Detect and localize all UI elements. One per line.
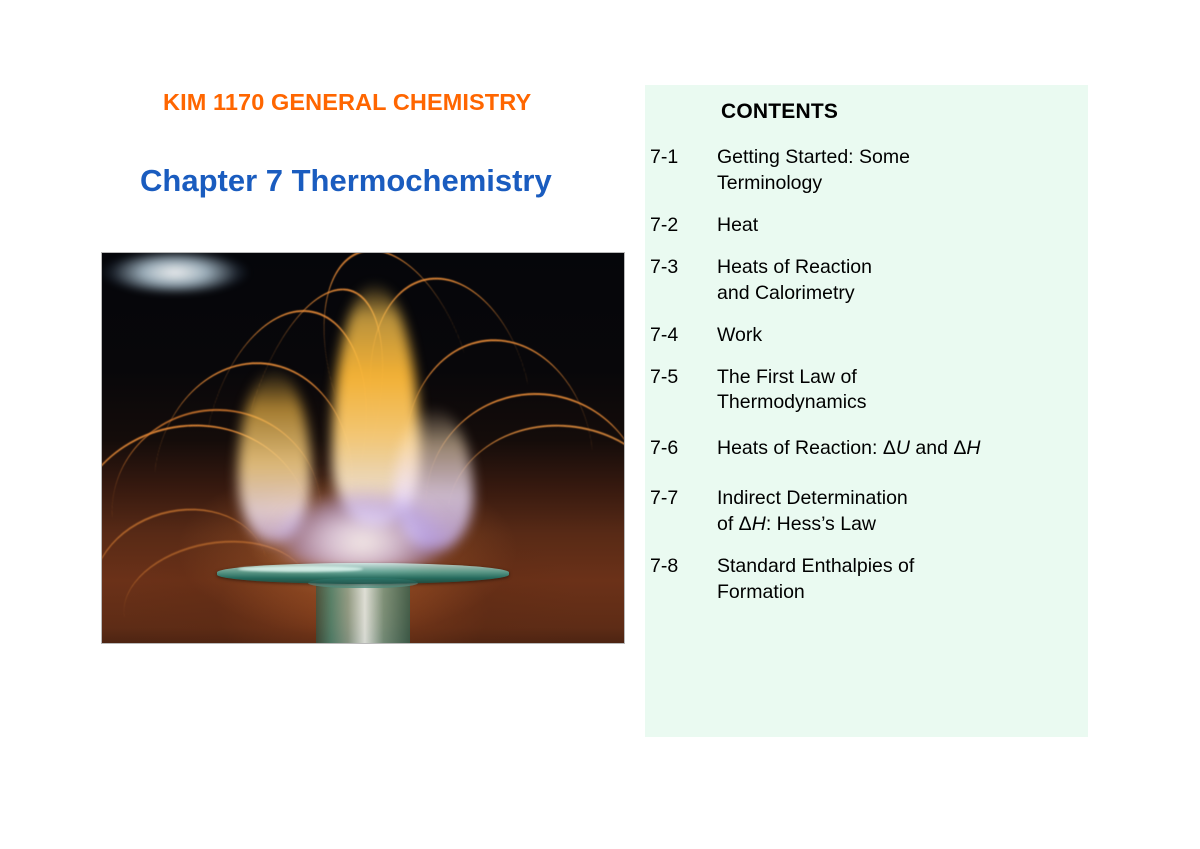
symbol-enthalpy: H: [752, 513, 766, 535]
toc-line-1: The First Law of: [717, 365, 867, 391]
toc-text-pre: of Δ: [717, 513, 752, 535]
contents-list: 7-1 Getting Started: Some Terminology 7-…: [650, 145, 1088, 622]
toc-number: 7-5: [650, 365, 717, 391]
toc-number: 7-6: [650, 436, 717, 462]
toc-number: 7-3: [650, 255, 717, 281]
list-item[interactable]: 7-5 The First Law of Thermodynamics: [650, 365, 1088, 417]
flame-hot-core: [102, 253, 248, 292]
toc-number: 7-4: [650, 323, 717, 349]
toc-number: 7-2: [650, 213, 717, 239]
symbol-enthalpy: H: [966, 437, 980, 459]
toc-line-1: Heats of Reaction: [717, 255, 872, 281]
contents-panel: CONTENTS 7-1 Getting Started: Some Termi…: [645, 85, 1088, 737]
toc-label: Heat: [717, 213, 758, 239]
toc-label: Indirect Determination of ΔH: Hess’s Law: [717, 486, 908, 538]
toc-text-post: : Hess’s Law: [766, 513, 876, 535]
toc-number: 7-7: [650, 486, 717, 512]
toc-line-1: Getting Started: Some: [717, 145, 910, 171]
course-title: KIM 1170 GENERAL CHEMISTRY: [163, 90, 630, 116]
list-item[interactable]: 7-6 Heats of Reaction: ΔU and ΔH: [650, 436, 1088, 462]
toc-label: Heats of Reaction: ΔU and ΔH: [717, 436, 980, 462]
symbol-internal-energy: U: [896, 437, 910, 459]
toc-label: Heats of Reaction and Calorimetry: [717, 255, 872, 307]
toc-line-2: Formation: [717, 580, 914, 606]
glass-stem: [316, 581, 410, 643]
list-item[interactable]: 7-2 Heat: [650, 213, 1088, 239]
combustion-photo: [102, 253, 624, 643]
toc-line-1: Heats of Reaction: ΔU and ΔH: [717, 436, 980, 462]
title-block: KIM 1170 GENERAL CHEMISTRY Chapter 7 The…: [100, 90, 630, 198]
toc-label: Standard Enthalpies of Formation: [717, 554, 914, 606]
slide-canvas: KIM 1170 GENERAL CHEMISTRY Chapter 7 The…: [0, 0, 1200, 849]
toc-line-1: Indirect Determination: [717, 486, 908, 512]
toc-line-1: Standard Enthalpies of: [717, 554, 914, 580]
toc-line-2: of ΔH: Hess’s Law: [717, 512, 908, 538]
toc-line-2: and Calorimetry: [717, 281, 872, 307]
toc-label: Work: [717, 323, 762, 349]
contents-heading: CONTENTS: [721, 100, 838, 124]
toc-text-pre: Heats of Reaction: Δ: [717, 437, 896, 459]
glass-dish-highlight: [238, 566, 363, 572]
chapter-title: Chapter 7 Thermochemistry: [140, 164, 630, 198]
toc-label: Getting Started: Some Terminology: [717, 145, 910, 197]
toc-number: 7-1: [650, 145, 717, 171]
list-item[interactable]: 7-4 Work: [650, 323, 1088, 349]
toc-line-1: Work: [717, 323, 762, 349]
toc-label: The First Law of Thermodynamics: [717, 365, 867, 417]
toc-text-mid: and Δ: [910, 437, 966, 459]
toc-number: 7-8: [650, 554, 717, 580]
flame-violet-base: [259, 471, 468, 572]
toc-line-2: Thermodynamics: [717, 390, 867, 416]
list-item[interactable]: 7-1 Getting Started: Some Terminology: [650, 145, 1088, 197]
toc-line-1: Heat: [717, 213, 758, 239]
list-item[interactable]: 7-3 Heats of Reaction and Calorimetry: [650, 255, 1088, 307]
list-item[interactable]: 7-7 Indirect Determination of ΔH: Hess’s…: [650, 486, 1088, 538]
toc-line-2: Terminology: [717, 171, 910, 197]
list-item[interactable]: 7-8 Standard Enthalpies of Formation: [650, 554, 1088, 606]
